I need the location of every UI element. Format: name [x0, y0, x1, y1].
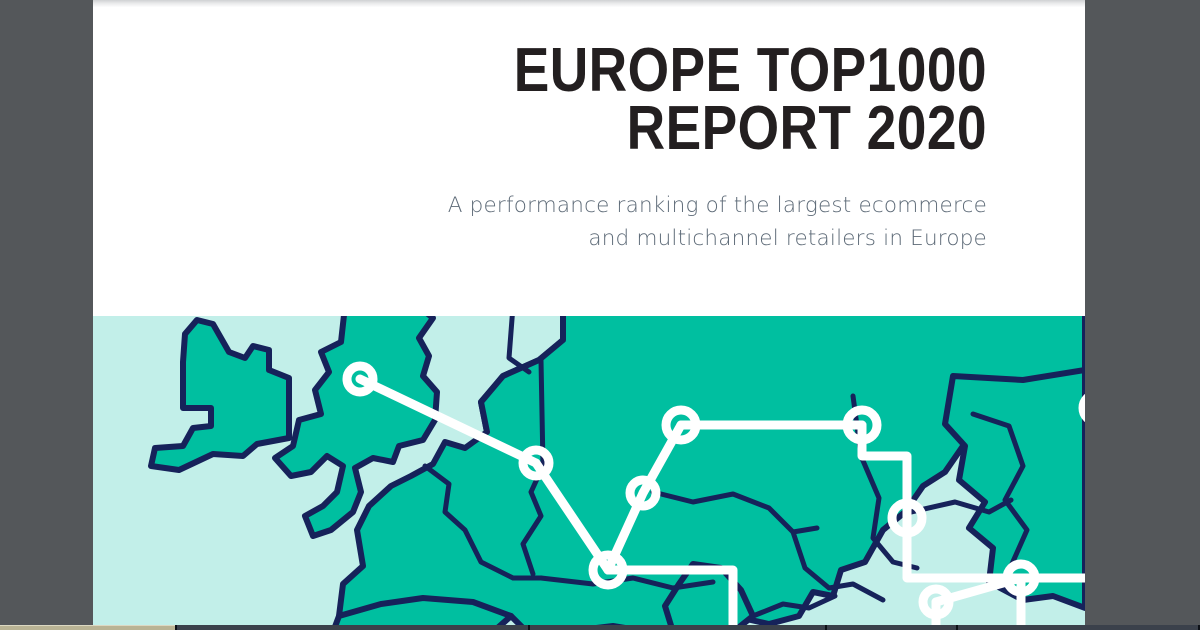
land-ireland — [151, 320, 289, 470]
screenshot-viewport: EUROPE TOP1000 REPORT 2020 A performance… — [0, 0, 1200, 630]
taskbar-window-5[interactable] — [958, 625, 1198, 630]
cover-hero: EUROPE TOP1000 REPORT 2020 A performance… — [93, 0, 1085, 316]
letterbox-left — [0, 0, 93, 630]
land-eastern-europe — [945, 370, 1085, 608]
letterbox-right — [1085, 0, 1200, 630]
europe-map-svg — [93, 316, 1085, 630]
taskbar-window-3[interactable] — [530, 625, 825, 630]
taskbar[interactable] — [0, 625, 1200, 630]
page-title: EUROPE TOP1000 REPORT 2020 — [218, 0, 987, 159]
page-top-edge — [93, 0, 1085, 7]
page-subtitle: A performance ranking of the largest eco… — [93, 159, 987, 256]
report-cover-page: EUROPE TOP1000 REPORT 2020 A performance… — [93, 0, 1085, 630]
taskbar-window-2[interactable] — [177, 625, 528, 630]
europe-map — [93, 316, 1085, 630]
taskbar-window-active[interactable] — [0, 625, 175, 630]
taskbar-window-4[interactable] — [827, 625, 957, 630]
